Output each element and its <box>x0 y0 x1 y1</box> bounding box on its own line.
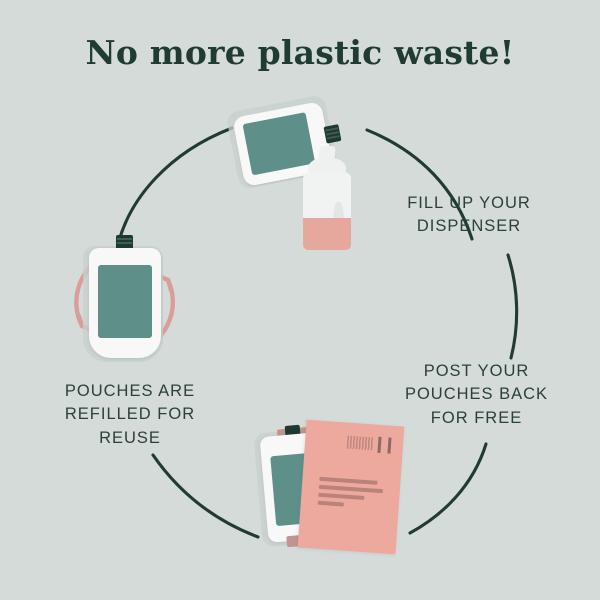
envelope-stamp <box>347 435 394 454</box>
bottle-liquid <box>303 218 351 250</box>
step-caption-fill: FILL UP YOUR DISPENSER <box>385 192 553 239</box>
pouch-cap-icon <box>323 124 341 144</box>
address-line <box>319 477 377 485</box>
address-line <box>319 485 383 493</box>
illustration-fill-dispenser <box>228 100 378 250</box>
address-line <box>318 501 344 507</box>
stamp-bar <box>377 437 381 453</box>
infographic-poster: No more plastic waste! <box>0 0 600 600</box>
step-caption-post: POST YOUR POUCHES BACK FOR FREE <box>395 360 558 430</box>
dispenser-bottle-icon <box>300 146 356 250</box>
envelope-address-lines <box>317 477 383 513</box>
illustration-post-pouches <box>258 420 418 555</box>
stamp-mark <box>347 436 374 451</box>
stamp-bar <box>387 437 391 453</box>
address-line <box>318 493 364 500</box>
bottle-body <box>303 172 351 250</box>
freepost-envelope-icon <box>298 420 405 555</box>
step-caption-refill: POUCHES ARE REFILLED FOR REUSE <box>40 380 220 450</box>
illustration-refill-reuse <box>55 232 195 372</box>
refill-pouch-icon <box>89 248 161 358</box>
pouch-label <box>98 265 152 338</box>
